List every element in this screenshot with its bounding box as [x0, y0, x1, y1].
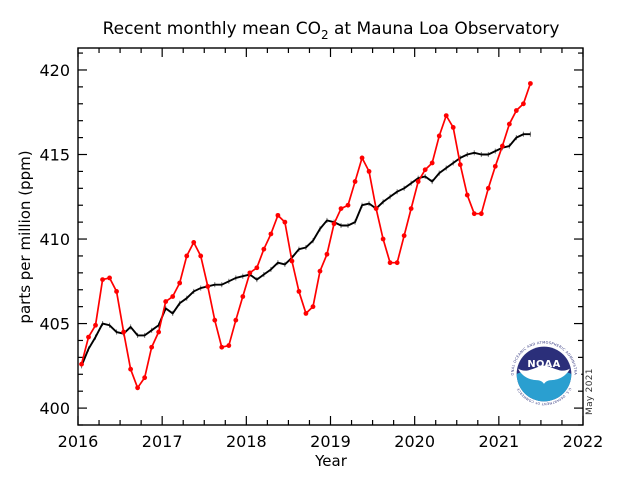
data-point: [121, 330, 126, 335]
chart-title-subscript: 2: [321, 28, 329, 42]
y-tick-label: 400: [39, 399, 70, 418]
noaa-logo: NOAA NATIONAL OCEANIC AND ATMOSPHERIC AD…: [506, 336, 582, 412]
data-point: [500, 144, 505, 149]
data-point: [226, 343, 231, 348]
data-point: [493, 164, 498, 169]
series-monthly-mean: [79, 81, 533, 390]
data-point: [135, 385, 140, 390]
chart-title-prefix: Recent monthly mean CO: [103, 19, 321, 39]
x-tick-label: 2016: [58, 432, 99, 451]
data-point: [275, 213, 280, 218]
data-point: [332, 221, 337, 226]
x-tick-label: 2019: [310, 432, 351, 451]
data-point: [142, 375, 147, 380]
data-point: [198, 254, 203, 259]
chart-title: Recent monthly mean CO2 at Mauna Loa Obs…: [103, 19, 560, 42]
data-point: [177, 281, 182, 286]
y-tick-label: 405: [39, 315, 70, 334]
data-point: [339, 206, 344, 211]
data-point: [114, 289, 119, 294]
series-line: [82, 84, 531, 388]
data-point: [465, 193, 470, 198]
data-point: [528, 81, 533, 86]
data-point: [191, 240, 196, 245]
data-point: [79, 362, 84, 367]
data-point: [254, 265, 259, 270]
data-point: [458, 162, 463, 167]
data-point: [261, 247, 266, 252]
data-point: [360, 155, 365, 160]
x-axis-tick-labels: 2016201720182019202020212022: [58, 432, 604, 451]
data-point: [416, 179, 421, 184]
x-tick-label: 2018: [226, 432, 267, 451]
data-point: [163, 299, 168, 304]
x-tick-label: 2022: [563, 432, 604, 451]
data-point: [381, 237, 386, 242]
date-stamp: May 2021: [585, 401, 640, 415]
data-point: [297, 289, 302, 294]
data-point: [128, 367, 133, 372]
data-point: [402, 233, 407, 238]
y-tick-label: 420: [39, 61, 70, 80]
data-point: [311, 304, 316, 309]
data-point: [86, 335, 91, 340]
chart-title-suffix: at Mauna Loa Observatory: [329, 19, 560, 39]
data-point: [451, 125, 456, 130]
data-point: [353, 179, 358, 184]
data-point: [507, 122, 512, 127]
data-point: [282, 220, 287, 225]
data-point: [205, 284, 210, 289]
data-point: [93, 323, 98, 328]
data-point: [212, 318, 217, 323]
data-point: [472, 211, 477, 216]
data-point: [395, 260, 400, 265]
data-point: [430, 161, 435, 166]
data-point: [233, 318, 238, 323]
data-point: [107, 276, 112, 281]
y-tick-label: 415: [39, 146, 70, 165]
data-point: [479, 211, 484, 216]
data-point: [325, 252, 330, 257]
x-tick-label: 2021: [478, 432, 519, 451]
svg-text:Recent monthly mean CO2 at Mau: Recent monthly mean CO2 at Mauna Loa Obs…: [103, 19, 560, 42]
data-point: [423, 167, 428, 172]
data-point: [269, 232, 274, 237]
y-tick-label: 410: [39, 230, 70, 249]
data-point: [444, 113, 449, 118]
data-point: [247, 270, 252, 275]
x-axis-label: Year: [314, 452, 348, 470]
data-point: [100, 277, 105, 282]
data-point: [486, 186, 491, 191]
data-point: [318, 269, 323, 274]
x-tick-label: 2020: [394, 432, 435, 451]
data-point: [346, 203, 351, 208]
data-point: [184, 254, 189, 259]
data-point: [367, 169, 372, 174]
co2-chart-figure: Recent monthly mean CO2 at Mauna Loa Obs…: [0, 0, 640, 478]
data-point: [240, 294, 245, 299]
data-point: [388, 260, 393, 265]
data-point: [521, 101, 526, 106]
logo-wordmark: NOAA: [527, 359, 560, 370]
y-axis-label: parts per million (ppm): [16, 150, 34, 323]
x-tick-label: 2017: [142, 432, 183, 451]
data-point: [514, 108, 519, 113]
data-point: [290, 259, 295, 264]
data-point: [170, 294, 175, 299]
data-point: [304, 311, 309, 316]
y-axis-tick-labels: 400405410415420: [39, 61, 70, 418]
data-point: [149, 345, 154, 350]
data-point: [374, 206, 379, 211]
data-point: [219, 345, 224, 350]
data-point: [409, 206, 414, 211]
data-point: [437, 134, 442, 139]
data-point: [156, 330, 161, 335]
